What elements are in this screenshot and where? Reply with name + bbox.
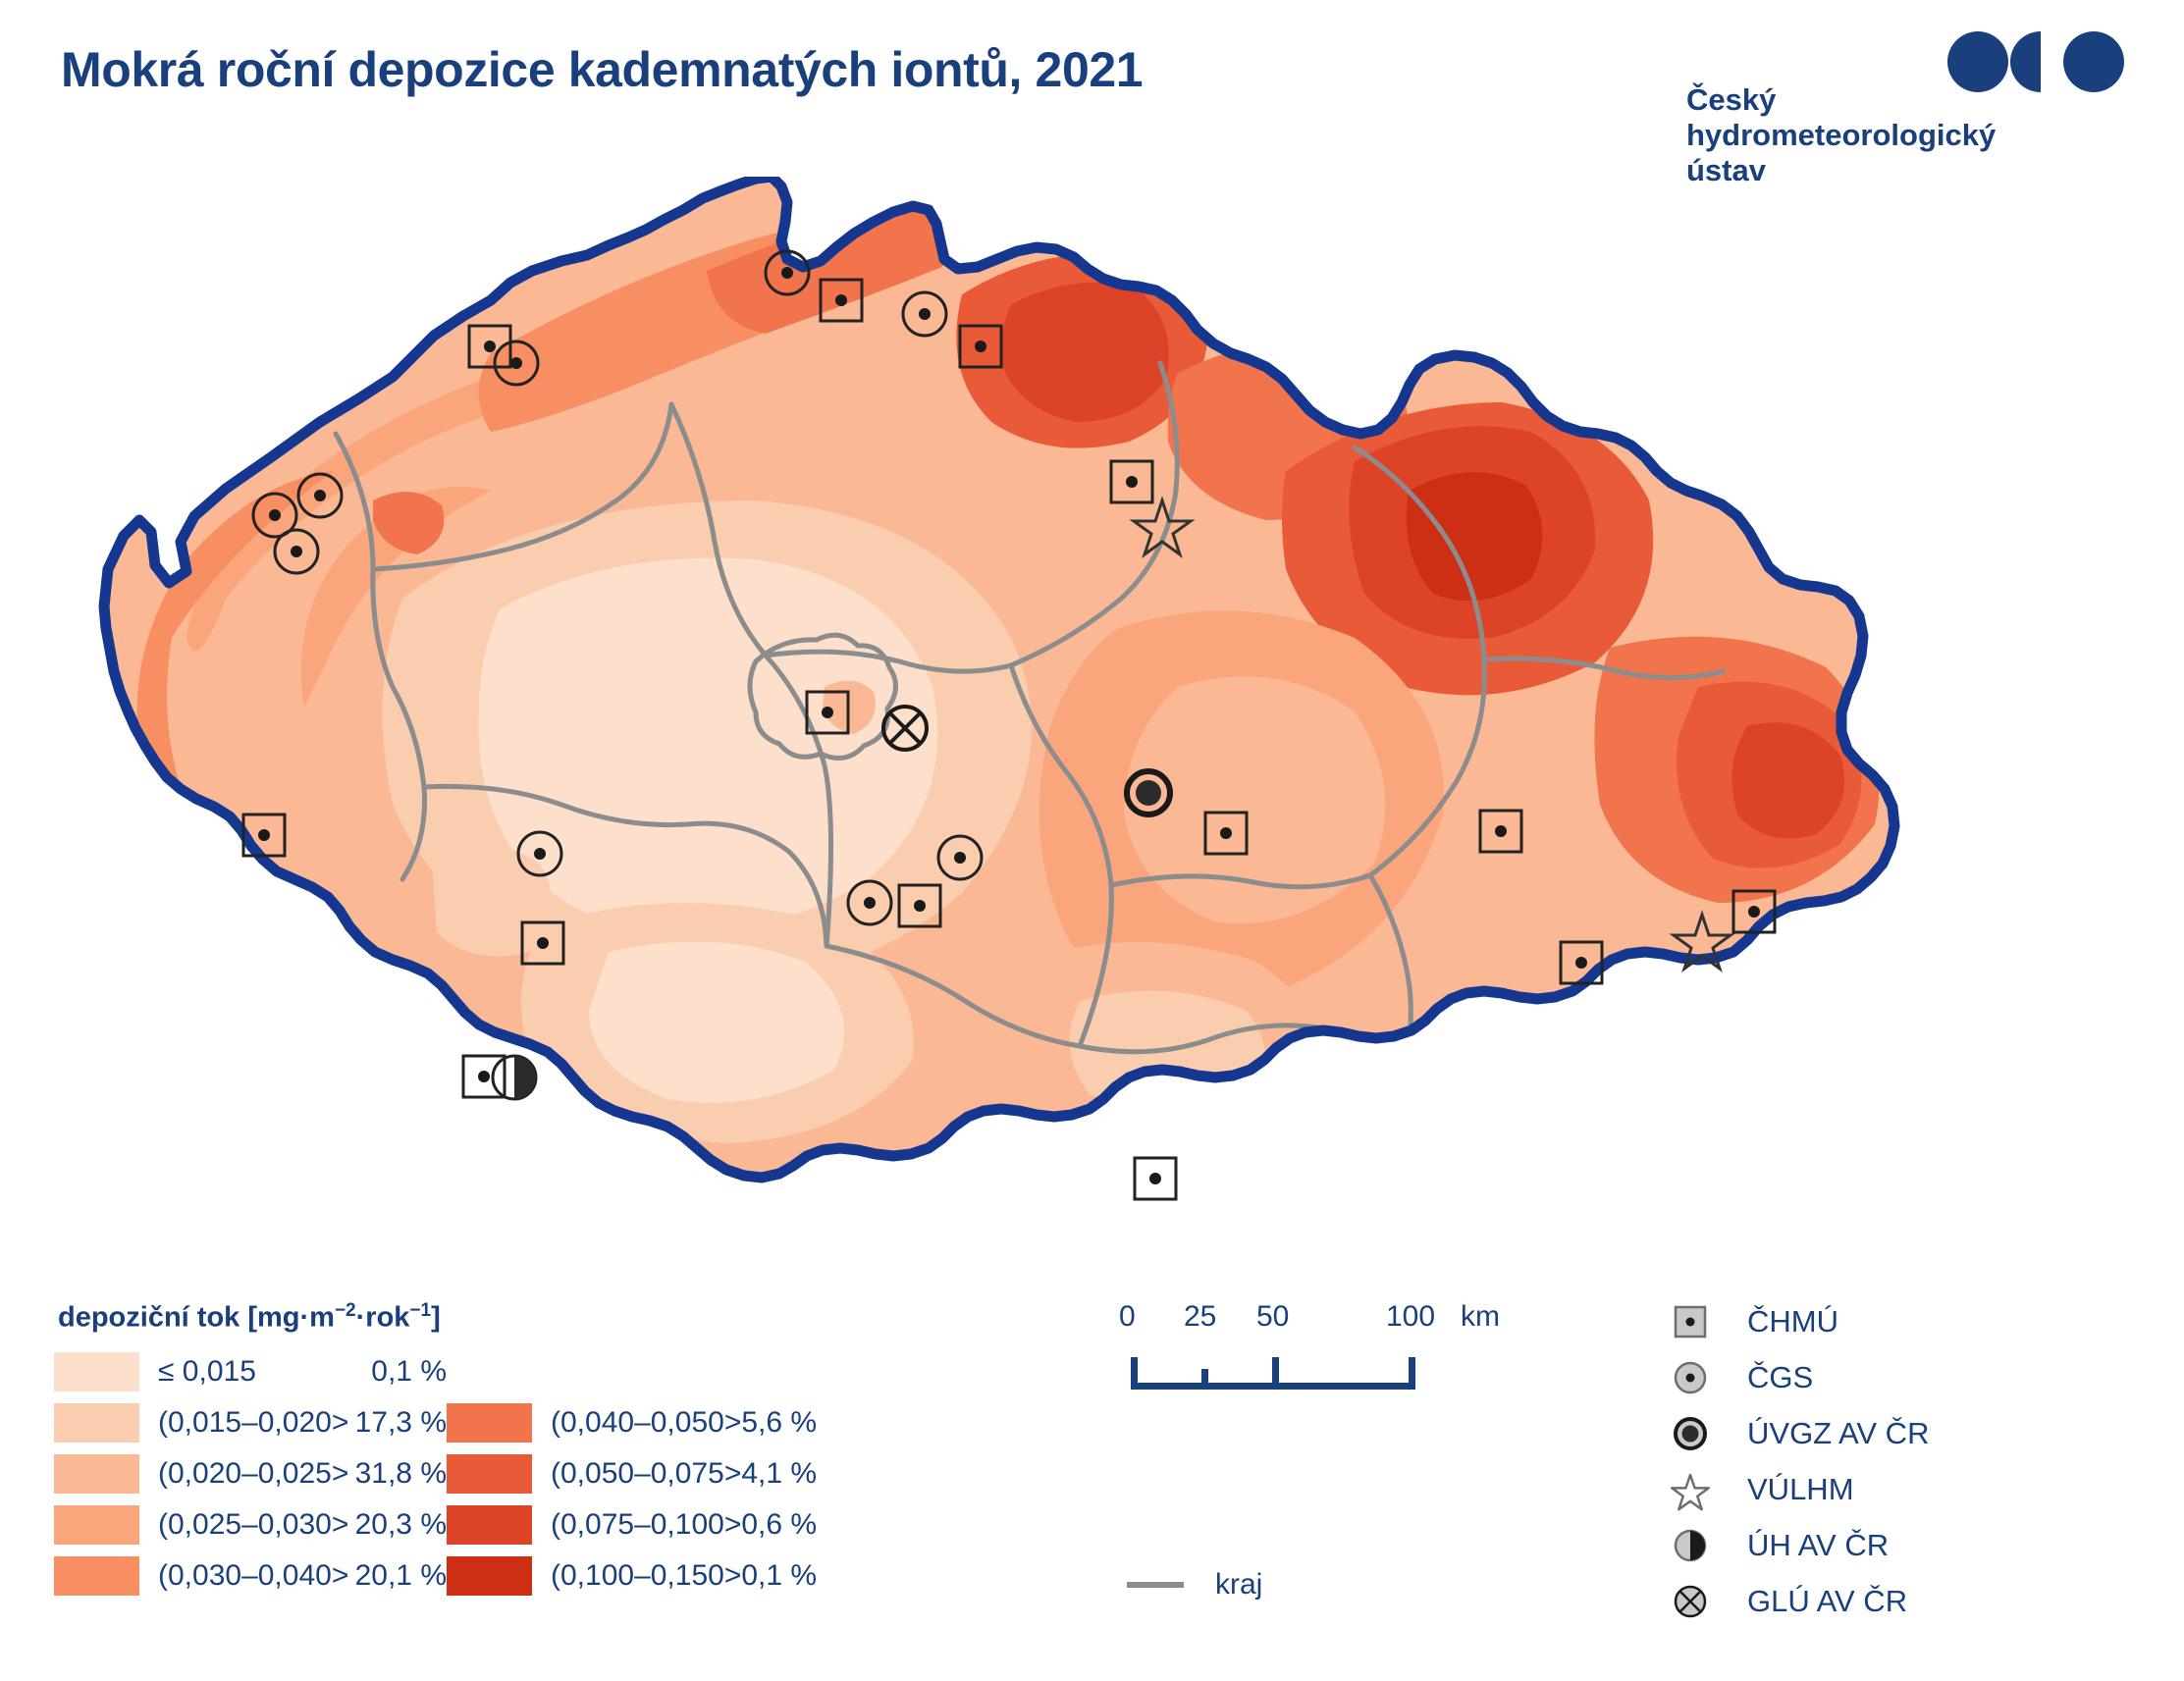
page-header: Mokrá roční depozice kademnatých iontů, … (0, 0, 2184, 196)
scale-label-25: 25 (1184, 1300, 1216, 1334)
legend-swatch (54, 1352, 139, 1392)
station-legend-item-uh[interactable]: ÚH AV ČR (1669, 1517, 1929, 1573)
station-legend-label: ČGS (1747, 1360, 1813, 1395)
legend-range: (0,030–0,040> (158, 1559, 348, 1593)
legend-percent: 31,8 % (355, 1457, 456, 1491)
map-canvas[interactable] (79, 177, 1944, 1276)
legend-percent: 20,3 % (355, 1508, 456, 1542)
legend-percent: 17,3 % (355, 1406, 456, 1440)
legend-percent: 0,6 % (741, 1508, 844, 1542)
page-title: Mokrá roční depozice kademnatých iontů, … (61, 41, 1143, 98)
legend-percent: 5,6 % (741, 1406, 844, 1440)
scale-bar-labels: 0 25 50 100 km (1119, 1300, 1531, 1343)
moravia-light (1124, 676, 1385, 923)
kraj-line-swatch (1127, 1582, 1184, 1588)
legend-title-sup1: −2 (335, 1300, 356, 1321)
legend-percent: 20,1 % (355, 1559, 456, 1593)
legend-range: (0,025–0,030> (158, 1508, 348, 1542)
station-legend-label: ČHMÚ (1747, 1304, 1838, 1340)
scale-label-50: 50 (1256, 1300, 1289, 1334)
legend-swatch (54, 1403, 139, 1443)
station-legend-label: VÚLHM (1747, 1472, 1854, 1507)
scale-tick-50 (1272, 1357, 1279, 1390)
legend-title-mid: ·rok (356, 1302, 410, 1334)
station-legend: ČHMÚ ČGS ÚVGZ AV ČR VÚLHM (1669, 1293, 1929, 1629)
logo-line-1: Český (1686, 82, 1996, 118)
station-marker-chmu[interactable] (1135, 1158, 1176, 1199)
legend-swatch (54, 1454, 139, 1494)
square-dot-icon (1669, 1300, 1722, 1343)
legend-range: (0,050–0,075> (551, 1457, 741, 1491)
logo-halfdisc-icon (2010, 31, 2041, 92)
scale-label-0: 0 (1119, 1300, 1136, 1334)
legend-row[interactable]: (0,075–0,100> 0,6 % (447, 1499, 839, 1550)
legend-range: (0,020–0,025> (158, 1457, 348, 1491)
ring-filled-icon (1669, 1412, 1722, 1455)
station-marker-uh[interactable] (493, 1056, 536, 1099)
station-legend-item-cgs[interactable]: ČGS (1669, 1349, 1929, 1405)
legend-row[interactable]: (0,040–0,050> 5,6 % (447, 1397, 839, 1448)
legend-swatch (54, 1505, 139, 1545)
legend-range: (0,040–0,050> (551, 1406, 741, 1440)
half-filled-circle-icon (1669, 1524, 1722, 1567)
legend-row[interactable]: (0,025–0,030> 20,3 % (54, 1499, 456, 1550)
station-legend-item-chmu[interactable]: ČHMÚ (1669, 1293, 1929, 1349)
station-legend-item-uvgz[interactable]: ÚVGZ AV ČR (1669, 1405, 1929, 1461)
legend-swatch (54, 1556, 139, 1596)
legend-row[interactable]: (0,015–0,020> 17,3 % (54, 1397, 456, 1448)
circle-cross-icon (1669, 1580, 1722, 1623)
legend-title: depoziční tok [mg·m−2·rok−1] (58, 1300, 1114, 1335)
station-legend-item-vulhm[interactable]: VÚLHM (1669, 1461, 1929, 1517)
legend-title-main: depoziční tok [mg·m (58, 1302, 335, 1334)
jeseniky-max (1407, 472, 1543, 601)
legend-swatch (447, 1556, 532, 1596)
circle-dot-icon (1669, 1356, 1722, 1399)
kraj-legend-item: kraj (1127, 1568, 1262, 1602)
scale-tick-25 (1201, 1369, 1208, 1390)
logo-line-2: hydrometeorologický (1686, 118, 1996, 153)
sumava-patch (432, 847, 553, 957)
star-outline-icon (1669, 1468, 1722, 1511)
legend-row[interactable]: ≤ 0,015 0,1 % (54, 1346, 456, 1397)
legend-range: (0,015–0,020> (158, 1406, 348, 1440)
kraj-label: kraj (1215, 1568, 1262, 1602)
legend-title-sup2: −1 (409, 1300, 431, 1321)
station-legend-label: ÚH AV ČR (1747, 1528, 1889, 1563)
legend-row[interactable]: (0,020–0,025> 31,8 % (54, 1448, 456, 1499)
legend-range: ≤ 0,015 (158, 1355, 256, 1389)
station-legend-label: ÚVGZ AV ČR (1747, 1416, 1929, 1451)
scale-tick-100 (1409, 1357, 1415, 1390)
legend-range: (0,075–0,100> (551, 1508, 741, 1542)
logo-text: Český hydrometeorologický ústav (1686, 82, 1996, 188)
legend-percent: 0,1 % (741, 1559, 844, 1593)
scale-label-100: 100 (1386, 1300, 1435, 1334)
scale-bar-graphic (1119, 1349, 1531, 1394)
legend-swatch (447, 1454, 532, 1494)
deposition-legend: depoziční tok [mg·m−2·rok−1] ≤ 0,015 0,1… (54, 1300, 1114, 1602)
legend-row[interactable]: (0,030–0,040> 20,1 % (54, 1550, 456, 1602)
scale-tick-0 (1131, 1357, 1138, 1390)
logo-circle-right-icon (2063, 31, 2124, 92)
czech-republic-choropleth-map[interactable] (79, 177, 1944, 1276)
legend-column-right: (0,040–0,050> 5,6 % (0,050–0,075> 4,1 % … (447, 1346, 839, 1602)
legend-row[interactable]: (0,100–0,150> 0,1 % (447, 1550, 839, 1602)
scale-bar: 0 25 50 100 km (1119, 1300, 1531, 1394)
legend-title-end: ] (431, 1302, 441, 1334)
legend-swatch (447, 1403, 532, 1443)
legend-column-left: ≤ 0,015 0,1 % (0,015–0,020> 17,3 % (0,02… (54, 1346, 456, 1602)
chmi-logo: Český hydrometeorologický ústav (1686, 31, 2118, 188)
south-bohemia-core (589, 942, 844, 1103)
legend-row[interactable]: (0,050–0,075> 4,1 % (447, 1448, 839, 1499)
station-legend-item-glu[interactable]: GLÚ AV ČR (1669, 1573, 1929, 1629)
station-legend-label: GLÚ AV ČR (1747, 1584, 1907, 1619)
legend-range: (0,100–0,150> (551, 1559, 741, 1593)
legend-percent: 0,1 % (371, 1355, 456, 1389)
legend-spacer (447, 1346, 839, 1397)
legend-swatch (447, 1505, 532, 1545)
legend-percent: 4,1 % (741, 1457, 844, 1491)
scale-unit: km (1461, 1300, 1500, 1334)
